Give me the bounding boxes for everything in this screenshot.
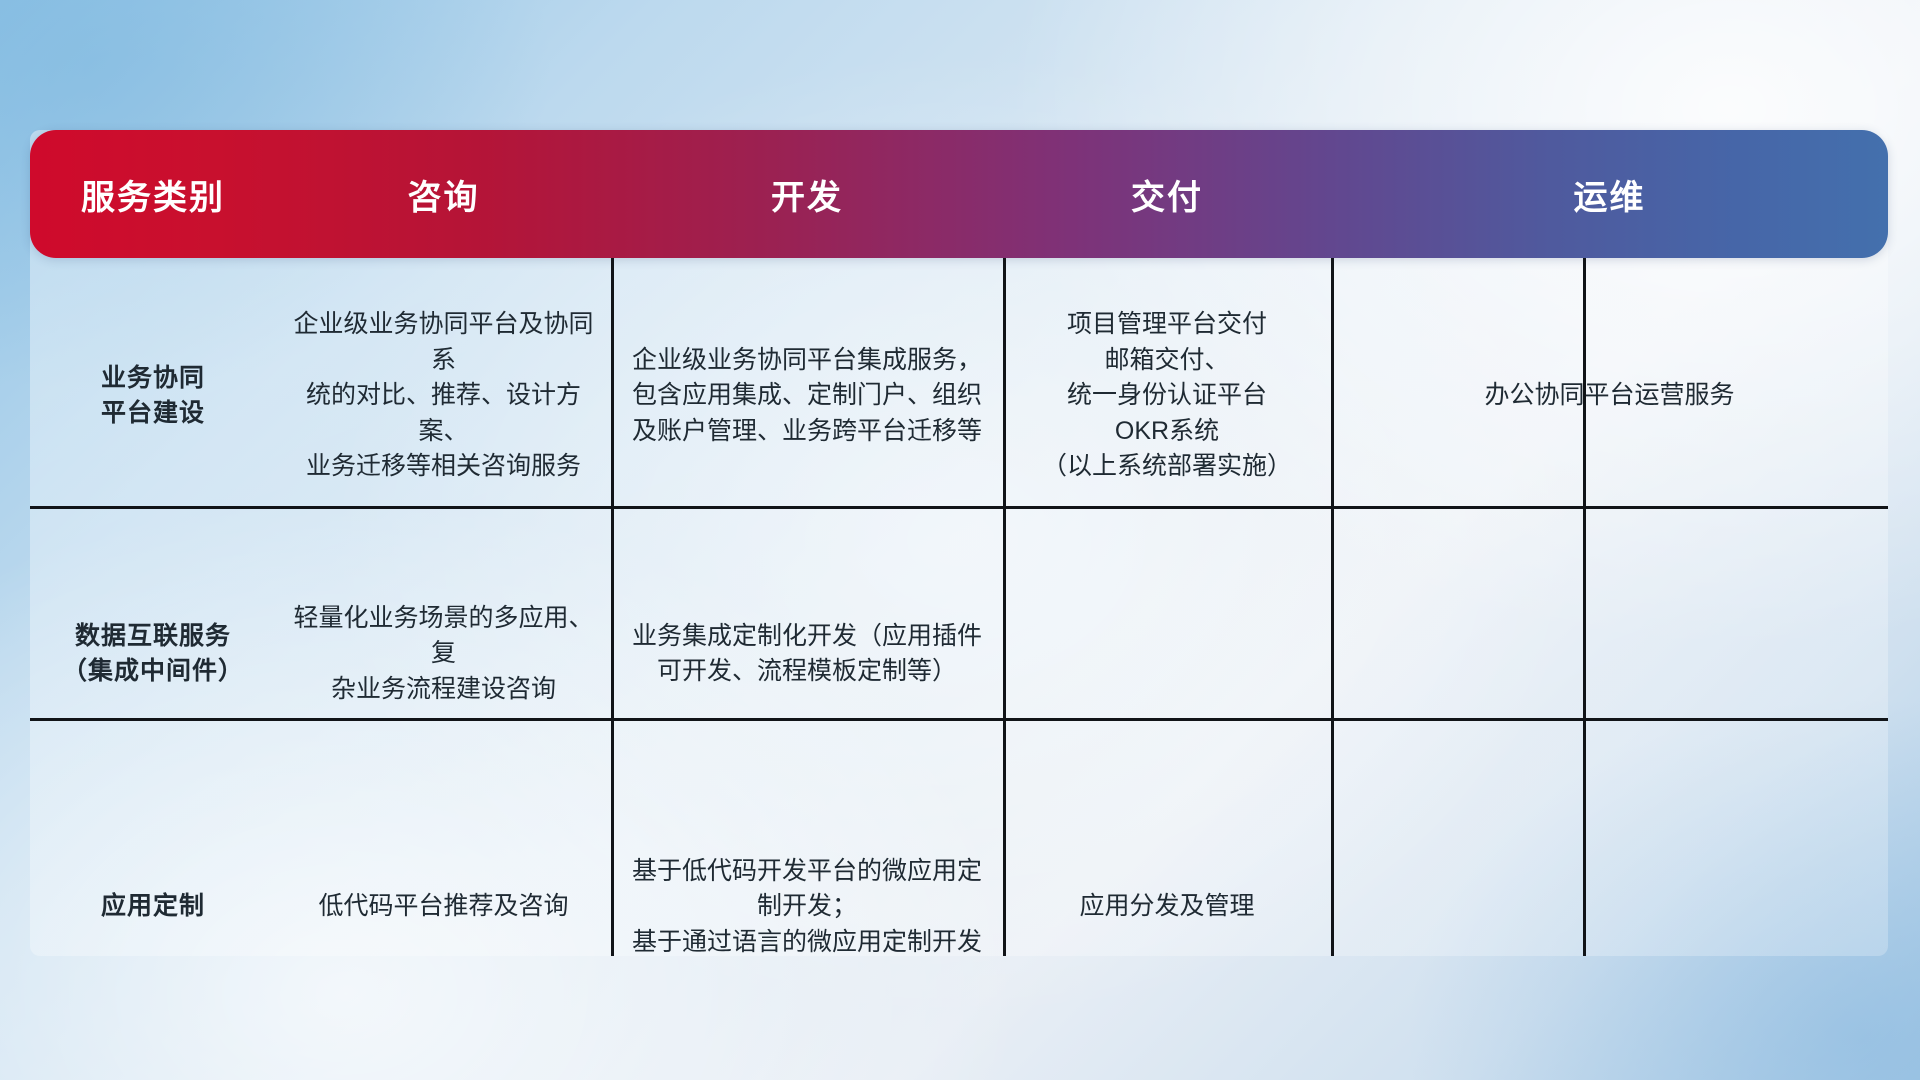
cell-development: 基于低代码开发平台的微应用定 制开发； 基于通过语言的微应用定制开发 [611,774,1003,1040]
cell-operations: 办公协同平台运营服务 [1331,258,1888,534]
cell-consulting: 低代码平台推荐及咨询 [276,774,611,1040]
header-cell-delivery: 交付 [1003,130,1331,258]
table-row: 业务协同 平台建设 企业级业务协同平台及协同系 统的对比、推荐、设计方案、 业务… [30,258,1888,534]
header-cell-development: 开发 [611,130,1003,258]
column-divider-4 [1583,258,1586,956]
column-divider-2 [1003,258,1006,956]
cell-operations [1331,534,1888,774]
header-cell-operations: 运维 [1331,130,1888,258]
cell-delivery [1003,534,1331,774]
row-divider-2 [30,718,1888,721]
cell-operations [1331,774,1888,1040]
row-category-label: 数据互联服务 （集成中间件） [30,534,276,774]
cell-consulting: 企业级业务协同平台及协同系 统的对比、推荐、设计方案、 业务迁移等相关咨询服务 [276,258,611,534]
header-cell-category: 服务类别 [30,130,276,258]
cell-consulting: 轻量化业务场景的多应用、复 杂业务流程建设咨询 [276,534,611,774]
cell-delivery: 应用分发及管理 [1003,774,1331,1040]
table-header-row: 服务类别 咨询 开发 交付 运维 [30,130,1888,258]
table-row: 数据互联服务 （集成中间件） 轻量化业务场景的多应用、复 杂业务流程建设咨询 业… [30,534,1888,774]
slide-canvas: 服务类别 咨询 开发 交付 运维 业务协同 平台建设 企业级业务协同平台及协同系… [0,0,1920,1080]
row-category-label: 业务协同 平台建设 [30,258,276,534]
column-divider-3 [1331,258,1334,956]
cell-development: 企业级业务协同平台集成服务， 包含应用集成、定制门户、组织 及账户管理、业务跨平… [611,258,1003,534]
table-row: 应用定制 低代码平台推荐及咨询 基于低代码开发平台的微应用定 制开发； 基于通过… [30,774,1888,1040]
cell-delivery: 项目管理平台交付 邮箱交付、 统一身份认证平台 OKR系统 （以上系统部署实施） [1003,258,1331,534]
header-cell-consulting: 咨询 [276,130,611,258]
cell-development: 业务集成定制化开发（应用插件 可开发、流程模板定制等） [611,534,1003,774]
column-divider-1 [611,258,614,956]
service-matrix-table: 服务类别 咨询 开发 交付 运维 业务协同 平台建设 企业级业务协同平台及协同系… [30,130,1888,1040]
row-category-label: 应用定制 [30,774,276,1040]
row-divider-1 [30,506,1888,509]
